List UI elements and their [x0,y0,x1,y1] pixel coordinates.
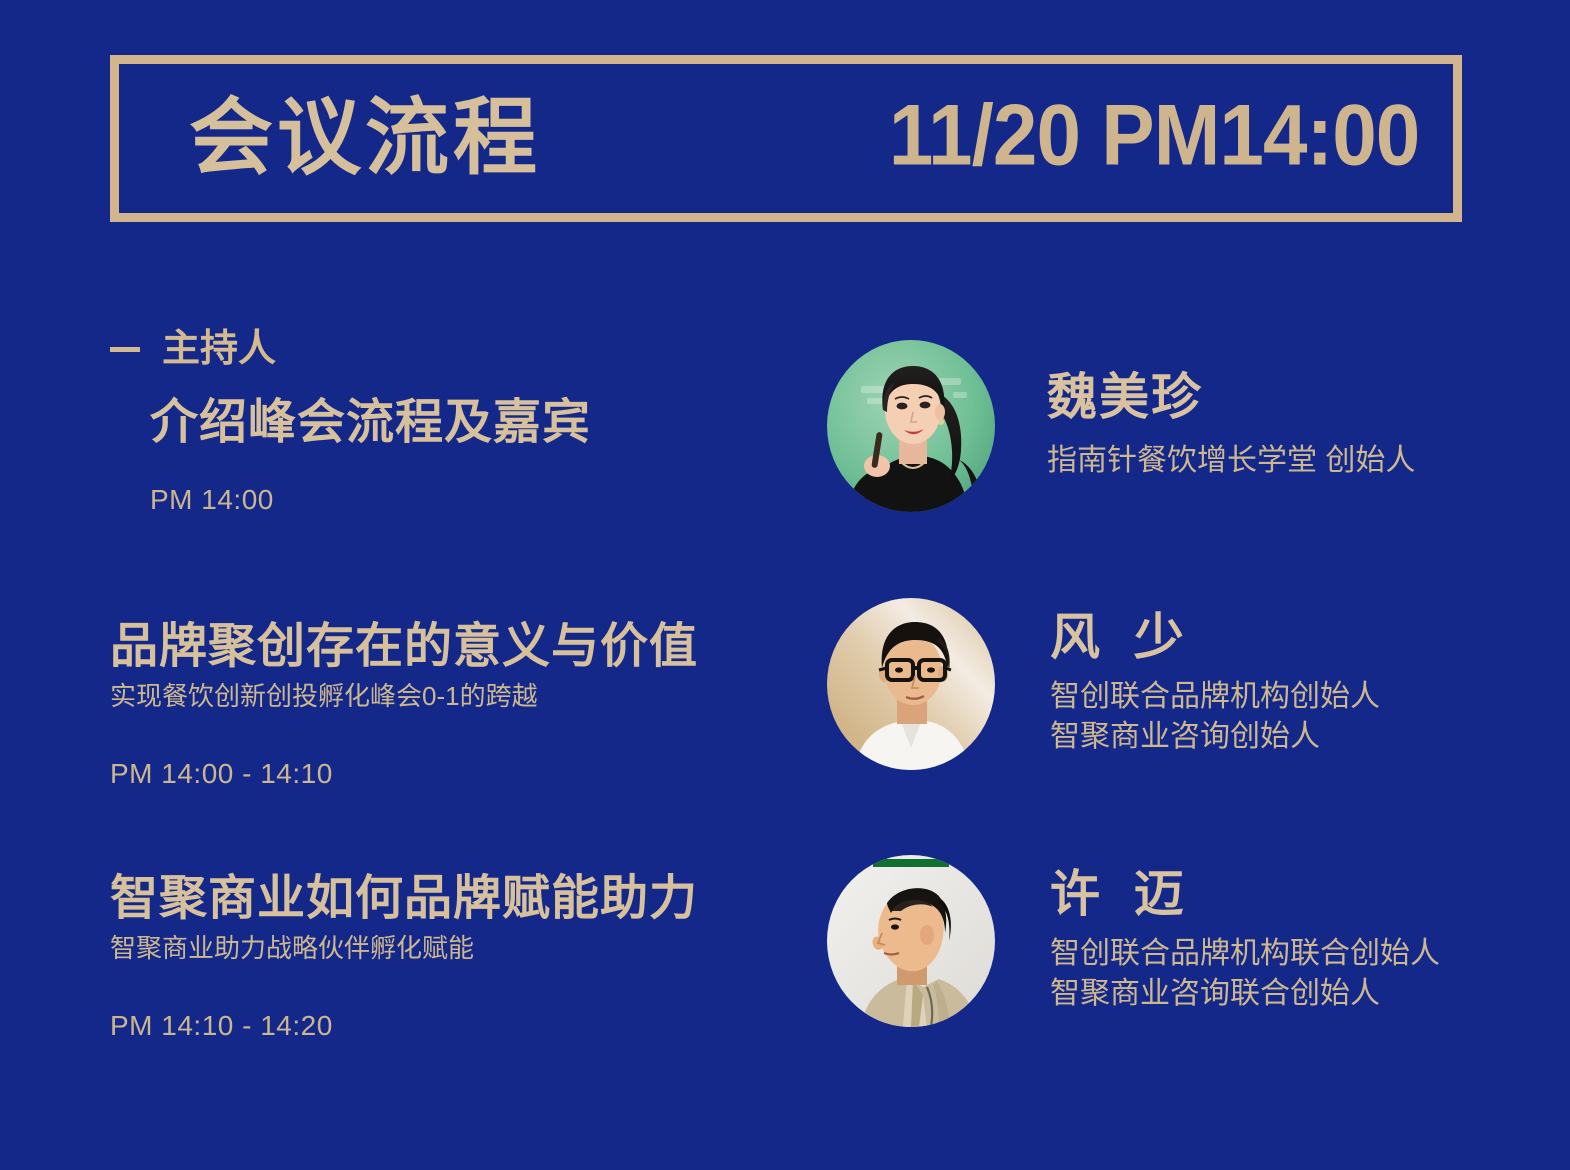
agenda-title: 介绍峰会流程及嘉宾 [150,396,810,450]
agenda-role: 主持人 [110,330,810,368]
agenda-time: PM 14:10 - 14:20 [110,1012,810,1040]
speaker-info: 许 迈 智创联合品牌机构联合创始人 智聚商业咨询联合创始人 [1050,868,1440,1014]
agenda-time: PM 14:00 - 14:10 [110,760,810,788]
speaker-row: 风 少 智创联合品牌机构创始人 智聚商业咨询创始人 [820,598,1570,770]
speaker-info: 魏美珍 指南针餐饮增长学堂 创始人 [1047,371,1415,481]
speaker-name: 许 迈 [1050,868,1440,921]
speaker-titles: 智创联合品牌机构联合创始人 智聚商业咨询联合创始人 [1050,934,1440,1014]
speaker-title-line: 指南针餐饮增长学堂 创始人 [1047,441,1415,481]
event-datetime: 11/20 PM14:00 [849,92,1419,178]
speaker-info: 风 少 智创联合品牌机构创始人 智聚商业咨询创始人 [1050,611,1380,757]
agenda-subtitle: 实现餐饮创新创投孵化峰会0-1的跨越 [110,680,810,714]
speaker-name: 风 少 [1050,611,1380,664]
header-box: 会议流程 11/20 PM14:00 [110,55,1462,222]
speaker-photo-icon [827,340,995,512]
speaker-titles: 智创联合品牌机构创始人 智聚商业咨询创始人 [1050,677,1380,757]
speaker-title-line: 智聚商业咨询创始人 [1050,717,1380,757]
agenda-item: 品牌聚创存在的意义与价值 实现餐饮创新创投孵化峰会0-1的跨越 PM 14:00… [110,620,810,788]
agenda-subtitle: 智聚商业助力战略伙伴孵化赋能 [110,932,810,966]
conference-agenda-slide: 会议流程 11/20 PM14:00 主持人 介绍峰会流程及嘉宾 PM 14:0… [0,0,1570,1170]
avatar [827,598,995,770]
avatar [827,855,995,1027]
speaker-name: 魏美珍 [1047,371,1415,424]
agenda-title: 智聚商业如何品牌赋能助力 [110,872,810,926]
speaker-photo-icon [827,598,995,770]
avatar [827,340,995,512]
speaker-row: 许 迈 智创联合品牌机构联合创始人 智聚商业咨询联合创始人 [820,855,1570,1027]
page-title: 会议流程 [189,95,541,179]
agenda-title: 品牌聚创存在的意义与价值 [110,620,810,674]
agenda-role-label: 主持人 [162,330,276,368]
speaker-title-line: 智创联合品牌机构联合创始人 [1050,934,1440,974]
agenda-time: PM 14:00 [150,486,810,514]
agenda-item: 主持人 介绍峰会流程及嘉宾 PM 14:00 [110,330,810,514]
speaker-title-line: 智创联合品牌机构创始人 [1050,677,1380,717]
speaker-row: 魏美珍 指南针餐饮增长学堂 创始人 [820,340,1570,512]
speaker-photo-icon [827,855,995,1027]
agenda-item: 智聚商业如何品牌赋能助力 智聚商业助力战略伙伴孵化赋能 PM 14:10 - 1… [110,872,810,1040]
event-datetime-text: 11/20 PM14:00 [889,92,1419,178]
speaker-title-line: 智聚商业咨询联合创始人 [1050,974,1440,1014]
agenda-body: 介绍峰会流程及嘉宾 PM 14:00 [150,396,810,514]
dash-icon [110,347,140,352]
speaker-titles: 指南针餐饮增长学堂 创始人 [1047,441,1415,481]
